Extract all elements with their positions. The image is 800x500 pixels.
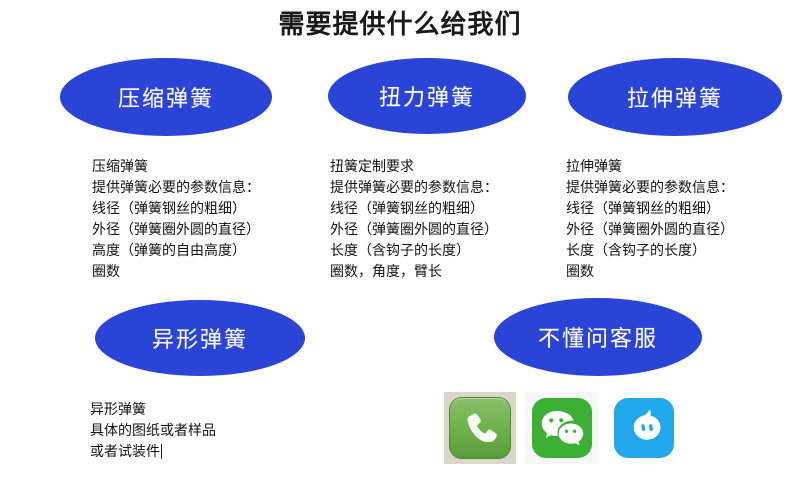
text-line: 提供弹簧必要的参数信息：: [330, 178, 498, 199]
slide-canvas: 需要提供什么给我们 压缩弹簧 扭力弹簧 拉伸弹簧 异形弹簧 不懂问客服 压缩弹簧…: [0, 0, 800, 500]
text-line: 长度（含钩子的长度）: [330, 241, 498, 262]
wechat-icon[interactable]: [532, 398, 592, 458]
text-line: 圈数，角度，臂长: [330, 262, 498, 283]
text-line: 拉伸弹簧: [566, 157, 734, 178]
text-line: 线径（弹簧钢丝的粗细）: [566, 199, 734, 220]
contact-icon-row: [444, 392, 680, 464]
ellipse-label: 压缩弹簧: [118, 81, 214, 113]
wangwang-icon[interactable]: [614, 398, 674, 458]
text-line: 异形弹簧: [90, 400, 216, 421]
ellipse-label: 拉伸弹簧: [627, 81, 723, 113]
ellipse-extension-spring[interactable]: 拉伸弹簧: [568, 58, 782, 136]
text-line: 长度（含钩子的长度）: [566, 241, 734, 262]
page-title: 需要提供什么给我们: [0, 8, 800, 42]
text-line: 外径（弹簧圈外圆的直径）: [330, 220, 498, 241]
text-line: 提供弹簧必要的参数信息：: [92, 178, 260, 199]
text-line: 压缩弹簧: [92, 157, 260, 178]
phone-icon-tile[interactable]: [444, 392, 516, 464]
wechat-icon-tile[interactable]: [526, 392, 598, 464]
ellipse-ask-support[interactable]: 不懂问客服: [494, 298, 702, 376]
text-block-shaped-spring: 异形弹簧 具体的图纸或者样品 或者试装件: [90, 400, 216, 463]
wangwang-icon-tile[interactable]: [608, 392, 680, 464]
text-line: 高度（弹簧的自由高度）: [92, 241, 260, 262]
text-line-content: 或者试装件: [90, 444, 160, 460]
phone-icon[interactable]: [449, 397, 511, 459]
text-line: 线径（弹簧钢丝的粗细）: [92, 199, 260, 220]
ellipse-label: 扭力弹簧: [379, 80, 475, 112]
text-line: 外径（弹簧圈外圆的直径）: [92, 220, 260, 241]
ellipse-label: 异形弹簧: [152, 322, 248, 354]
text-line: 线径（弹簧钢丝的粗细）: [330, 199, 498, 220]
text-line: 外径（弹簧圈外圆的直径）: [566, 220, 734, 241]
text-line: 或者试装件: [90, 442, 216, 463]
text-line: 扭簧定制要求: [330, 157, 498, 178]
text-line: 圈数: [566, 262, 734, 283]
text-block-torsion-spring: 扭簧定制要求 提供弹簧必要的参数信息： 线径（弹簧钢丝的粗细） 外径（弹簧圈外圆…: [330, 157, 498, 283]
text-block-extension-spring: 拉伸弹簧 提供弹簧必要的参数信息： 线径（弹簧钢丝的粗细） 外径（弹簧圈外圆的直…: [566, 157, 734, 283]
text-line: 具体的图纸或者样品: [90, 421, 216, 442]
ellipse-shaped-spring[interactable]: 异形弹簧: [95, 300, 305, 376]
text-line: 圈数: [92, 262, 260, 283]
text-line: 提供弹簧必要的参数信息：: [566, 178, 734, 199]
text-block-compression-spring: 压缩弹簧 提供弹簧必要的参数信息： 线径（弹簧钢丝的粗细） 外径（弹簧圈外圆的直…: [92, 157, 260, 283]
text-caret: [161, 444, 162, 459]
ellipse-label: 不懂问客服: [538, 321, 658, 353]
ellipse-torsion-spring[interactable]: 扭力弹簧: [328, 58, 526, 134]
ellipse-compression-spring[interactable]: 压缩弹簧: [60, 58, 272, 136]
